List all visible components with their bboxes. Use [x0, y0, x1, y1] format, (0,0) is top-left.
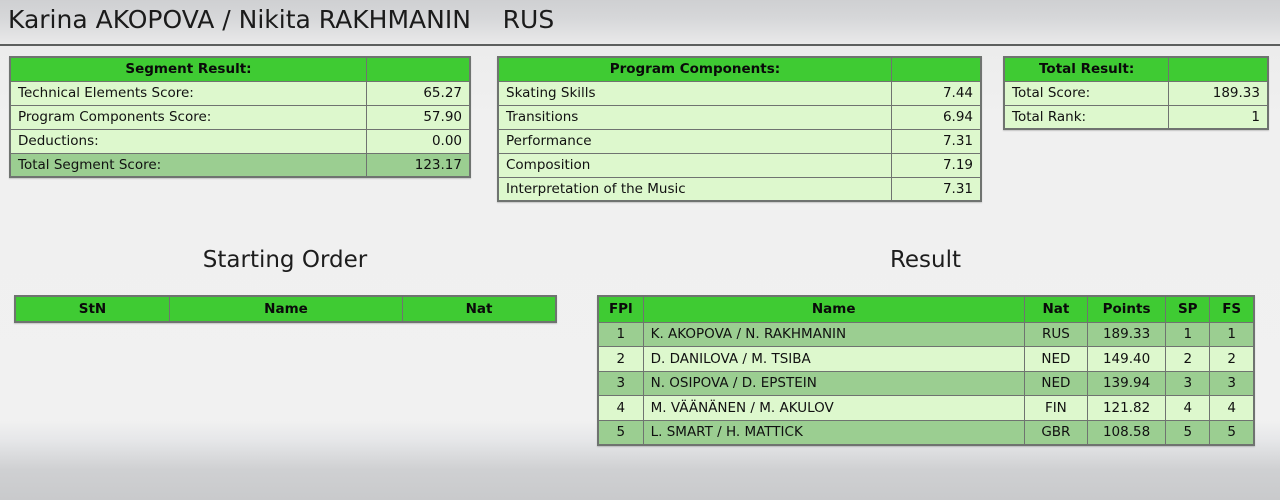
result-table: FPlNameNatPointsSPFS 1K. AKOPOVA / N. RA…	[597, 295, 1255, 446]
row-label: Deductions:	[10, 129, 366, 153]
program-components-table: Program Components: Skating Skills7.44Tr…	[497, 56, 982, 202]
total-result-table: Total Result: Total Score:189.33Total Ra…	[1003, 56, 1269, 130]
result-fpl: 5	[598, 420, 643, 445]
table-row: 5L. SMART / H. MATTICKGBR108.5855	[598, 420, 1254, 445]
starting-order-caption: Starting Order	[0, 247, 570, 273]
result-nat: RUS	[1024, 322, 1087, 347]
row-label: Total Score:	[1004, 81, 1169, 105]
table-row: Performance7.31	[498, 129, 981, 153]
result-points: 139.94	[1087, 371, 1165, 396]
result-name: N. OSIPOVA / D. EPSTEIN	[643, 371, 1024, 396]
result-sp: 4	[1166, 396, 1210, 421]
table-header-row: Program Components:	[498, 57, 981, 81]
result-points: 149.40	[1087, 347, 1165, 372]
row-label: Skating Skills	[498, 81, 891, 105]
result-name: L. SMART / H. MATTICK	[643, 420, 1024, 445]
table-row: Total Score:189.33	[1004, 81, 1268, 105]
result-caption: Result	[596, 247, 1255, 273]
segment-result-body: Technical Elements Score:65.27Program Co…	[10, 81, 470, 177]
segment-result-blank-header	[366, 57, 470, 81]
result-column-fs: FS	[1210, 296, 1254, 322]
table-row: Total Segment Score:123.17	[10, 153, 470, 177]
row-value: 7.31	[891, 177, 981, 201]
starting-order-column-stn: StN	[15, 296, 169, 322]
total-result-blank-header	[1169, 57, 1268, 81]
result-fs: 2	[1210, 347, 1254, 372]
row-label: Program Components Score:	[10, 105, 366, 129]
result-name: D. DANILOVA / M. TSIBA	[643, 347, 1024, 372]
table-row: Total Rank:1	[1004, 105, 1268, 129]
result-nat: FIN	[1024, 396, 1087, 421]
result-column-points: Points	[1087, 296, 1165, 322]
result-fs: 5	[1210, 420, 1254, 445]
row-value: 189.33	[1169, 81, 1268, 105]
table-row: Composition7.19	[498, 153, 981, 177]
result-name: K. AKOPOVA / N. RAKHMANIN	[643, 322, 1024, 347]
table-header-row: Total Result:	[1004, 57, 1268, 81]
result-points: 108.58	[1087, 420, 1165, 445]
table-row: Transitions6.94	[498, 105, 981, 129]
row-value: 7.31	[891, 129, 981, 153]
result-name: M. VÄÄNÄNEN / M. AKULOV	[643, 396, 1024, 421]
result-column-name: Name	[643, 296, 1024, 322]
row-value: 1	[1169, 105, 1268, 129]
result-nat: NED	[1024, 371, 1087, 396]
table-row: Skating Skills7.44	[498, 81, 981, 105]
result-sp: 5	[1166, 420, 1210, 445]
starting-order-column-nat: Nat	[403, 296, 556, 322]
table-row: 3N. OSIPOVA / D. EPSTEINNED139.9433	[598, 371, 1254, 396]
result-fs: 4	[1210, 396, 1254, 421]
row-label: Technical Elements Score:	[10, 81, 366, 105]
row-label: Total Rank:	[1004, 105, 1169, 129]
result-fpl: 4	[598, 396, 643, 421]
row-value: 65.27	[366, 81, 470, 105]
result-column-nat: Nat	[1024, 296, 1087, 322]
row-value: 6.94	[891, 105, 981, 129]
result-nat: GBR	[1024, 420, 1087, 445]
row-value: 123.17	[366, 153, 470, 177]
header-band: Karina AKOPOVA / Nikita RAKHMANIN RUS	[0, 0, 1280, 46]
row-value: 0.00	[366, 129, 470, 153]
row-label: Transitions	[498, 105, 891, 129]
row-value: 7.44	[891, 81, 981, 105]
program-components-blank-header	[891, 57, 981, 81]
table-row: 1K. AKOPOVA / N. RAKHMANINRUS189.3311	[598, 322, 1254, 347]
starting-order-column-name: Name	[169, 296, 402, 322]
table-header-row: StNNameNat	[15, 296, 556, 322]
row-value: 7.19	[891, 153, 981, 177]
page-title: Karina AKOPOVA / Nikita RAKHMANIN RUS	[8, 5, 554, 34]
segment-result-title: Segment Result:	[10, 57, 366, 81]
row-label: Interpretation of the Music	[498, 177, 891, 201]
row-label: Total Segment Score:	[10, 153, 366, 177]
result-nat: NED	[1024, 347, 1087, 372]
table-row: Program Components Score:57.90	[10, 105, 470, 129]
result-sp: 2	[1166, 347, 1210, 372]
result-fpl: 2	[598, 347, 643, 372]
result-fs: 3	[1210, 371, 1254, 396]
result-fpl: 1	[598, 322, 643, 347]
result-column-sp: SP	[1166, 296, 1210, 322]
result-points: 189.33	[1087, 322, 1165, 347]
table-header-row: FPlNameNatPointsSPFS	[598, 296, 1254, 322]
table-row: 2D. DANILOVA / M. TSIBANED149.4022	[598, 347, 1254, 372]
result-sp: 3	[1166, 371, 1210, 396]
result-body: 1K. AKOPOVA / N. RAKHMANINRUS189.33112D.…	[598, 322, 1254, 445]
table-row: Deductions:0.00	[10, 129, 470, 153]
program-components-title: Program Components:	[498, 57, 891, 81]
result-sp: 1	[1166, 322, 1210, 347]
table-row: Technical Elements Score:65.27	[10, 81, 470, 105]
row-label: Composition	[498, 153, 891, 177]
result-fpl: 3	[598, 371, 643, 396]
row-label: Performance	[498, 129, 891, 153]
total-result-body: Total Score:189.33Total Rank:1	[1004, 81, 1268, 129]
result-column-fpl: FPl	[598, 296, 643, 322]
row-value: 57.90	[366, 105, 470, 129]
program-components-body: Skating Skills7.44Transitions6.94Perform…	[498, 81, 981, 201]
starting-order-table: StNNameNat	[14, 295, 557, 323]
table-row: 4M. VÄÄNÄNEN / M. AKULOVFIN121.8244	[598, 396, 1254, 421]
result-points: 121.82	[1087, 396, 1165, 421]
table-header-row: Segment Result:	[10, 57, 470, 81]
total-result-title: Total Result:	[1004, 57, 1169, 81]
segment-result-table: Segment Result: Technical Elements Score…	[9, 56, 471, 178]
result-fs: 1	[1210, 322, 1254, 347]
table-row: Interpretation of the Music7.31	[498, 177, 981, 201]
